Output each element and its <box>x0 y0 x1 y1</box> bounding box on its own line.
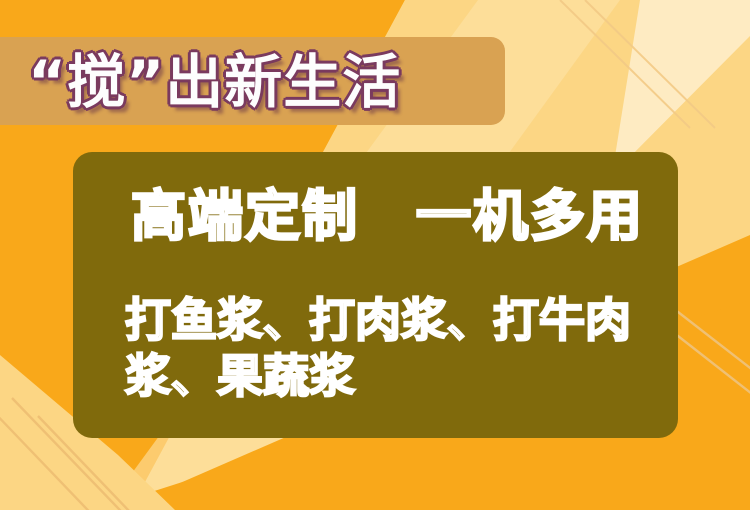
poster-canvas: “搅”出新生活 高端定制 一机多用 打鱼浆、打肉浆、打牛肉浆、果蔬浆 <box>0 0 750 510</box>
feature-card: 高端定制 一机多用 打鱼浆、打肉浆、打牛肉浆、果蔬浆 <box>73 152 678 438</box>
diagonal-band-white-2 <box>612 0 750 175</box>
diagonal-line <box>560 0 690 128</box>
diagonal-line-group-top-right <box>560 0 715 128</box>
diagonal-line <box>585 0 715 128</box>
diagonal-band-white <box>640 0 750 150</box>
page-title: “搅”出新生活 <box>28 36 508 128</box>
card-headline: 高端定制 一机多用 <box>131 188 671 246</box>
card-body-text: 打鱼浆、打肉浆、打牛肉浆、果蔬浆 <box>125 292 685 404</box>
